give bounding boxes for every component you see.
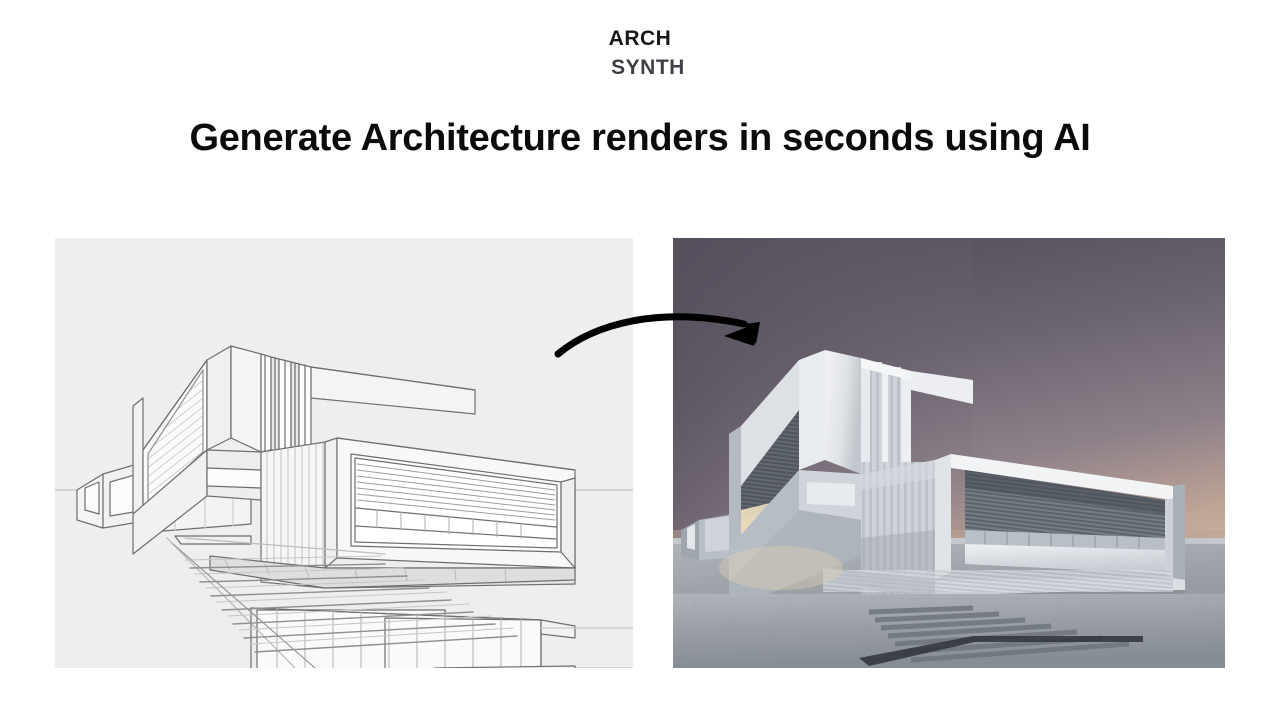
- page-headline: Generate Architecture renders in seconds…: [0, 117, 1280, 160]
- sketch-illustration: [55, 238, 633, 668]
- landing-page: ARCH SYNTH Generate Architecture renders…: [0, 0, 1280, 720]
- transform-arrow: [548, 288, 778, 368]
- arrow-icon: [548, 288, 778, 368]
- brand-line-arch: ARCH: [0, 28, 1280, 49]
- brand-logo: ARCH SYNTH: [0, 28, 1280, 78]
- before-sketch-image: [55, 238, 633, 668]
- brand-line-synth: SYNTH: [0, 57, 1280, 78]
